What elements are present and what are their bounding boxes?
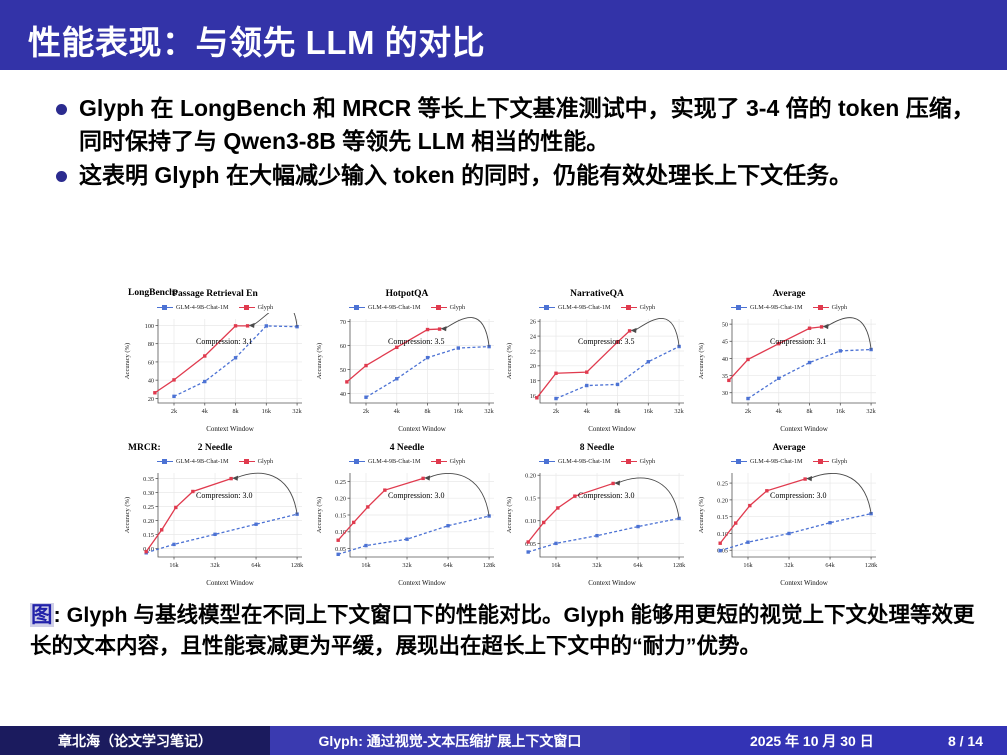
legend-label: GLM-4-9B-Chat-1M (176, 304, 229, 311)
svg-text:Context Window: Context Window (206, 425, 255, 433)
legend-label: Glyph (832, 458, 847, 465)
chart-title: HotpotQA (312, 288, 502, 301)
svg-text:8k: 8k (806, 408, 813, 415)
chart-plot-area: 1618202224262k4k8k16k32kContext WindowAc… (502, 313, 692, 435)
svg-text:32k: 32k (402, 562, 412, 569)
svg-text:32k: 32k (592, 562, 602, 569)
chart-legend: GLM-4-9B-Chat-1MGlyph (312, 456, 502, 467)
svg-text:4k: 4k (776, 408, 783, 415)
svg-text:32k: 32k (210, 562, 220, 569)
chart-plot-area: 0.100.150.200.250.300.3516k32k64k128kCon… (120, 467, 310, 589)
title-divider (0, 70, 1007, 74)
footer-bar: 章北海（论文学习笔记） Glyph: 通过视觉-文本压缩扩展上下文窗口 2025… (0, 726, 1007, 755)
svg-text:0.15: 0.15 (143, 532, 154, 539)
legend-label: GLM-4-9B-Chat-1M (368, 458, 421, 465)
legend-swatch-icon (431, 304, 447, 311)
svg-text:16k: 16k (836, 408, 846, 415)
svg-text:Context Window: Context Window (780, 425, 829, 433)
legend-swatch-icon (239, 304, 255, 311)
chart-title: 4 Needle (312, 442, 502, 455)
legend-label: Glyph (258, 304, 273, 311)
svg-text:8k: 8k (232, 408, 239, 415)
chart-panel: AverageGLM-4-9B-Chat-1MGlyph0.050.100.15… (694, 442, 884, 590)
chart-title: Average (694, 288, 884, 301)
legend-label: Glyph (640, 458, 655, 465)
legend-swatch-icon (621, 304, 637, 311)
legend-label: GLM-4-9B-Chat-1M (368, 304, 421, 311)
chart-legend: GLM-4-9B-Chat-1MGlyph (120, 456, 310, 467)
footer-date: 2025 年 10 月 30 日 (750, 731, 874, 751)
chart-legend: GLM-4-9B-Chat-1MGlyph (502, 302, 692, 313)
chart-panel: 2 NeedleGLM-4-9B-Chat-1MGlyph0.100.150.2… (120, 442, 310, 590)
svg-text:0.20: 0.20 (525, 473, 536, 480)
legend-label: GLM-4-9B-Chat-1M (176, 458, 229, 465)
footer-right: 2025 年 10 月 30 日 8 / 14 (630, 726, 1007, 755)
svg-text:30: 30 (722, 390, 728, 397)
svg-text:2k: 2k (745, 408, 752, 415)
svg-text:128k: 128k (865, 562, 878, 569)
svg-text:Accuracy (%): Accuracy (%) (316, 497, 323, 533)
svg-text:50: 50 (722, 322, 728, 329)
svg-text:32k: 32k (484, 408, 494, 415)
svg-text:0.20: 0.20 (717, 497, 728, 504)
svg-text:16k: 16k (169, 562, 179, 569)
svg-text:16k: 16k (551, 562, 561, 569)
svg-text:Compression: 3.0: Compression: 3.0 (388, 491, 444, 500)
svg-text:64k: 64k (825, 562, 835, 569)
legend-item: Glyph (813, 304, 847, 311)
chart-panel: NarrativeQAGLM-4-9B-Chat-1MGlyph16182022… (502, 288, 692, 436)
legend-label: GLM-4-9B-Chat-1M (750, 304, 803, 311)
svg-text:0.25: 0.25 (335, 479, 346, 486)
legend-item: GLM-4-9B-Chat-1M (539, 458, 611, 465)
svg-text:40: 40 (148, 378, 154, 385)
svg-text:24: 24 (530, 333, 536, 340)
svg-text:0.20: 0.20 (143, 518, 154, 525)
svg-text:20: 20 (530, 363, 536, 370)
svg-text:2k: 2k (363, 408, 370, 415)
svg-text:Compression: 3.0: Compression: 3.0 (196, 491, 252, 500)
legend-item: Glyph (239, 304, 273, 311)
bullet-text: 这表明 Glyph 在大幅减少输入 token 的同时，仍能有效处理长上下文任务… (79, 159, 979, 192)
legend-item: Glyph (239, 458, 273, 465)
svg-text:0.10: 0.10 (525, 518, 536, 525)
legend-swatch-icon (431, 458, 447, 465)
svg-text:128k: 128k (291, 562, 304, 569)
bullet-dot-icon (56, 104, 67, 115)
svg-text:40: 40 (340, 391, 346, 398)
svg-text:Accuracy (%): Accuracy (%) (506, 343, 513, 379)
chart-plot-area: 0.050.100.150.200.2516k32k64k128kContext… (694, 467, 884, 589)
svg-text:Context Window: Context Window (398, 579, 447, 587)
svg-text:20: 20 (148, 396, 154, 403)
legend-item: GLM-4-9B-Chat-1M (157, 458, 229, 465)
svg-text:60: 60 (340, 343, 346, 350)
svg-text:100: 100 (145, 323, 154, 330)
legend-swatch-icon (539, 458, 555, 465)
caption-tag: 图 (30, 603, 54, 627)
svg-text:50: 50 (340, 367, 346, 374)
svg-text:Context Window: Context Window (588, 425, 637, 433)
svg-text:Context Window: Context Window (588, 579, 637, 587)
svg-text:16k: 16k (644, 408, 654, 415)
legend-label: Glyph (450, 458, 465, 465)
svg-text:Context Window: Context Window (398, 425, 447, 433)
legend-label: GLM-4-9B-Chat-1M (558, 458, 611, 465)
chart-panel: 4 NeedleGLM-4-9B-Chat-1MGlyph0.050.100.1… (312, 442, 502, 590)
legend-item: GLM-4-9B-Chat-1M (731, 304, 803, 311)
svg-text:Context Window: Context Window (780, 579, 829, 587)
legend-item: Glyph (621, 304, 655, 311)
svg-text:Context Window: Context Window (206, 579, 255, 587)
svg-text:Accuracy (%): Accuracy (%) (698, 343, 705, 379)
svg-text:40: 40 (722, 356, 728, 363)
svg-text:Accuracy (%): Accuracy (%) (124, 343, 131, 379)
legend-item: GLM-4-9B-Chat-1M (157, 304, 229, 311)
svg-text:60: 60 (148, 359, 154, 366)
svg-text:32k: 32k (784, 562, 794, 569)
legend-item: GLM-4-9B-Chat-1M (539, 304, 611, 311)
svg-text:26: 26 (530, 319, 536, 326)
chart-plot-area: 0.050.100.150.2016k32k64k128kContext Win… (502, 467, 692, 589)
svg-text:Accuracy (%): Accuracy (%) (698, 497, 705, 533)
svg-text:8k: 8k (614, 408, 621, 415)
svg-text:64k: 64k (443, 562, 453, 569)
list-item: Glyph 在 LongBench 和 MRCR 等长上下文基准测试中，实现了 … (56, 92, 986, 157)
svg-text:Compression: 3.5: Compression: 3.5 (578, 337, 634, 346)
legend-label: Glyph (640, 304, 655, 311)
legend-label: GLM-4-9B-Chat-1M (558, 304, 611, 311)
legend-label: GLM-4-9B-Chat-1M (750, 458, 803, 465)
svg-text:Accuracy (%): Accuracy (%) (316, 343, 323, 379)
legend-item: GLM-4-9B-Chat-1M (349, 304, 421, 311)
bullet-list: Glyph 在 LongBench 和 MRCR 等长上下文基准测试中，实现了 … (56, 92, 986, 194)
svg-text:32k: 32k (292, 408, 302, 415)
chart-plot-area: 204060801002k4k8k16k32kContext WindowAcc… (120, 313, 310, 435)
bullet-dot-icon (56, 171, 67, 182)
chart-panel: 8 NeedleGLM-4-9B-Chat-1MGlyph0.050.100.1… (502, 442, 692, 590)
svg-text:16k: 16k (262, 408, 272, 415)
svg-text:45: 45 (722, 339, 728, 346)
chart-panel: Passage Retrieval EnGLM-4-9B-Chat-1MGlyp… (120, 288, 310, 436)
legend-swatch-icon (539, 304, 555, 311)
legend-swatch-icon (731, 304, 747, 311)
chart-legend: GLM-4-9B-Chat-1MGlyph (312, 302, 502, 313)
svg-text:0.20: 0.20 (335, 496, 346, 503)
chart-plot-area: 405060702k4k8k16k32kContext WindowAccura… (312, 313, 502, 435)
chart-title: NarrativeQA (502, 288, 692, 301)
chart-legend: GLM-4-9B-Chat-1MGlyph (694, 302, 884, 313)
legend-label: Glyph (258, 458, 273, 465)
svg-text:0.30: 0.30 (143, 490, 154, 497)
chart-title: Average (694, 442, 884, 455)
footer-page-number: 8 / 14 (948, 733, 983, 749)
page-title: 性能表现：与领先 LLM 的对比 (28, 16, 485, 64)
chart-title: 2 Needle (120, 442, 310, 455)
svg-text:0.25: 0.25 (717, 480, 728, 487)
svg-text:4k: 4k (202, 408, 209, 415)
svg-text:128k: 128k (673, 562, 686, 569)
svg-text:16k: 16k (361, 562, 371, 569)
svg-text:2k: 2k (171, 408, 178, 415)
svg-text:32k: 32k (674, 408, 684, 415)
legend-swatch-icon (349, 304, 365, 311)
title-bar: 性能表现：与领先 LLM 的对比 (0, 0, 1007, 70)
svg-text:Accuracy (%): Accuracy (%) (506, 497, 513, 533)
legend-item: Glyph (813, 458, 847, 465)
legend-item: Glyph (621, 458, 655, 465)
legend-label: Glyph (450, 304, 465, 311)
chart-panel: AverageGLM-4-9B-Chat-1MGlyph30354045502k… (694, 288, 884, 436)
chart-plot-area: 30354045502k4k8k16k32kContext WindowAccu… (694, 313, 884, 435)
svg-text:70: 70 (340, 319, 346, 326)
svg-text:16k: 16k (454, 408, 464, 415)
svg-text:Accuracy (%): Accuracy (%) (124, 497, 131, 533)
bullet-text: Glyph 在 LongBench 和 MRCR 等长上下文基准测试中，实现了 … (79, 92, 979, 157)
chart-legend: GLM-4-9B-Chat-1MGlyph (120, 302, 310, 313)
svg-text:Compression: 3.0: Compression: 3.0 (770, 491, 826, 500)
chart-legend: GLM-4-9B-Chat-1MGlyph (694, 456, 884, 467)
svg-text:0.15: 0.15 (335, 512, 346, 519)
svg-text:16k: 16k (743, 562, 753, 569)
svg-text:Compression: 3.0: Compression: 3.0 (578, 491, 634, 500)
legend-item: Glyph (431, 458, 465, 465)
svg-text:0.15: 0.15 (717, 514, 728, 521)
chart-panel: HotpotQAGLM-4-9B-Chat-1MGlyph405060702k4… (312, 288, 502, 436)
svg-text:128k: 128k (483, 562, 496, 569)
figure-caption: 图: Glyph 与基线模型在不同上下文窗口下的性能对比。Glyph 能够用更短… (30, 600, 980, 663)
legend-swatch-icon (621, 458, 637, 465)
svg-text:22: 22 (530, 348, 536, 355)
chart-row-longbench: LongBench: Passage Retrieval EnGLM-4-9B-… (100, 288, 890, 436)
legend-swatch-icon (157, 458, 173, 465)
svg-text:0.35: 0.35 (143, 476, 154, 483)
legend-swatch-icon (239, 458, 255, 465)
caption-text: : Glyph 与基线模型在不同上下文窗口下的性能对比。Glyph 能够用更短的… (30, 603, 974, 658)
footer-paper-title: Glyph: 通过视觉-文本压缩扩展上下文窗口 (270, 726, 630, 755)
list-item: 这表明 Glyph 在大幅减少输入 token 的同时，仍能有效处理长上下文任务… (56, 159, 986, 192)
legend-swatch-icon (157, 304, 173, 311)
legend-swatch-icon (731, 458, 747, 465)
figure-charts: LongBench: Passage Retrieval EnGLM-4-9B-… (100, 288, 890, 588)
svg-text:64k: 64k (251, 562, 261, 569)
svg-text:80: 80 (148, 341, 154, 348)
chart-legend: GLM-4-9B-Chat-1MGlyph (502, 456, 692, 467)
svg-text:2k: 2k (553, 408, 560, 415)
chart-plot-area: 0.050.100.150.200.2516k32k64k128kContext… (312, 467, 502, 589)
footer-author: 章北海（论文学习笔记） (0, 726, 270, 755)
legend-item: GLM-4-9B-Chat-1M (731, 458, 803, 465)
svg-text:4k: 4k (394, 408, 401, 415)
svg-text:18: 18 (530, 378, 536, 385)
svg-text:32k: 32k (866, 408, 876, 415)
chart-title: 8 Needle (502, 442, 692, 455)
legend-swatch-icon (813, 304, 829, 311)
svg-text:16: 16 (530, 393, 536, 400)
svg-text:0.25: 0.25 (143, 504, 154, 511)
legend-label: Glyph (832, 304, 847, 311)
svg-text:4k: 4k (584, 408, 591, 415)
svg-text:Compression: 3.1: Compression: 3.1 (770, 337, 826, 346)
legend-swatch-icon (349, 458, 365, 465)
svg-text:8k: 8k (424, 408, 431, 415)
slide: 性能表现：与领先 LLM 的对比 Glyph 在 LongBench 和 MRC… (0, 0, 1007, 755)
chart-row-mrcr: MRCR: 2 NeedleGLM-4-9B-Chat-1MGlyph0.100… (100, 442, 890, 590)
svg-text:0.15: 0.15 (525, 495, 536, 502)
legend-swatch-icon (813, 458, 829, 465)
legend-item: Glyph (431, 304, 465, 311)
svg-text:35: 35 (722, 373, 728, 380)
chart-title: Passage Retrieval En (120, 288, 310, 301)
svg-text:Compression: 3.5: Compression: 3.5 (388, 337, 444, 346)
legend-item: GLM-4-9B-Chat-1M (349, 458, 421, 465)
svg-text:64k: 64k (633, 562, 643, 569)
svg-text:Compression: 3.1: Compression: 3.1 (196, 337, 252, 346)
